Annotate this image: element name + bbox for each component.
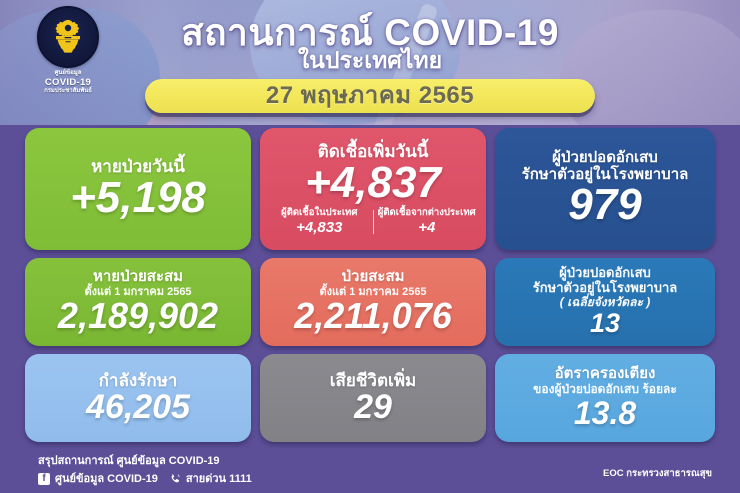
facebook-page-label[interactable]: ศูนย์ข้อมูล COVID-19	[55, 471, 158, 488]
footer-summary-text: สรุปสถานการณ์ ศูนย์ข้อมูล COVID-19	[38, 453, 252, 470]
substat-imported: ผู้ติดเชื้อจากต่างประเทศ +4	[374, 208, 481, 236]
substat-value: +4,833	[270, 219, 369, 236]
stat-value: 46,205	[86, 390, 190, 425]
facebook-icon[interactable]: f	[38, 473, 50, 485]
stat-value: 2,189,902	[58, 298, 218, 335]
report-date: 27 พฤษภาคม 2565	[266, 84, 474, 108]
hotline-label: สายด่วน 1111	[186, 471, 252, 488]
stat-label: อัตราครองเตียง	[555, 366, 656, 383]
stat-card-pneumonia-in-hospital: ผู้ป่วยปอดอักเสบ รักษาตัวอยู่ในโรงพยาบาล…	[495, 128, 715, 250]
stat-card-recovered-cumulative: หายป่วยสะสม ตั้งแต่ 1 มกราคม 2565 2,189,…	[25, 258, 251, 346]
covid-infographic-poster: ศูนย์ข้อมูล COVID-19 กรมประชาสัมพันธ์ สถ…	[0, 0, 740, 493]
stat-card-pneumonia-avg-per-province: ผู้ป่วยปอดอักเสบ รักษาตัวอยู่ในโรงพยาบาล…	[495, 258, 715, 346]
stat-value: 29	[354, 390, 392, 425]
stat-card-cases-cumulative: ป่วยสะสม ตั้งแต่ 1 มกราคม 2565 2,211,076	[260, 258, 486, 346]
stat-value: +5,198	[70, 176, 206, 221]
substat-group: ผู้ติดเชื้อในประเทศ +4,833 ผู้ติดเชื้อจา…	[266, 208, 480, 236]
substat-label: ผู้ติดเชื้อจากต่างประเทศ	[378, 208, 477, 219]
stat-card-currently-treating: กำลังรักษา 46,205	[25, 354, 251, 442]
stat-card-new-cases-today: ติดเชื้อเพิ่มวันนี้ +4,837 ผู้ติดเชื้อใน…	[260, 128, 486, 250]
substat-label: ผู้ติดเชื้อในประเทศ	[270, 208, 369, 219]
stats-row-3: กำลังรักษา 46,205 เสียชีวิตเพิ่ม 29 อัตร…	[25, 354, 715, 442]
footer-source-label: EOC กระทรวงสาธารณสุข	[603, 466, 712, 481]
poster-header: ศูนย์ข้อมูล COVID-19 กรมประชาสัมพันธ์ สถ…	[0, 0, 740, 125]
stat-label: ผู้ป่วยปอดอักเสบ	[552, 150, 658, 167]
stat-label: ป่วยสะสม	[342, 269, 405, 286]
stat-card-deaths-today: เสียชีวิตเพิ่ม 29	[260, 354, 486, 442]
stats-row-2: หายป่วยสะสม ตั้งแต่ 1 มกราคม 2565 2,189,…	[25, 258, 715, 346]
emblem-caption: ศูนย์ข้อมูล COVID-19 กรมประชาสัมพันธ์	[20, 70, 116, 95]
emblem-caption-line2: COVID-19	[20, 77, 116, 88]
date-banner: 27 พฤษภาคม 2565	[145, 79, 595, 113]
stat-sublabel: ของผู้ป่วยปอดอักเสบ ร้อยละ	[533, 383, 677, 397]
substat-value: +4	[378, 219, 477, 236]
substat-domestic: ผู้ติดเชื้อในประเทศ +4,833	[266, 208, 373, 236]
stat-sublabel: ตั้งแต่ 1 มกราคม 2565	[84, 286, 191, 299]
stat-value: +4,837	[305, 161, 441, 206]
footer-left-block: สรุปสถานการณ์ ศูนย์ข้อมูล COVID-19 f ศูน…	[38, 453, 252, 487]
emblem-caption-line3: กรมประชาสัมพันธ์	[44, 88, 92, 94]
stat-sublabel: ตั้งแต่ 1 มกราคม 2565	[319, 286, 426, 299]
stat-label: หายป่วยสะสม	[93, 269, 183, 286]
stat-card-recovered-today: หายป่วยวันนี้ +5,198	[25, 128, 251, 250]
stat-value: 979	[568, 183, 641, 228]
stat-card-bed-occupancy-rate: อัตราครองเตียง ของผู้ป่วยปอดอักเสบ ร้อยล…	[495, 354, 715, 442]
phone-icon	[169, 473, 181, 485]
footer-contact-row: f ศูนย์ข้อมูล COVID-19 สายด่วน 1111	[38, 471, 252, 488]
stat-value: 13	[590, 310, 620, 338]
statistics-grid: หายป่วยวันนี้ +5,198 ติดเชื้อเพิ่มวันนี้…	[25, 128, 715, 442]
header-title-block: สถานการณ์ COVID-19 ในประเทศไทย	[0, 14, 740, 72]
stat-value: 2,211,076	[294, 298, 451, 335]
stats-row-1: หายป่วยวันนี้ +5,198 ติดเชื้อเพิ่มวันนี้…	[25, 128, 715, 250]
poster-footer: สรุปสถานการณ์ ศูนย์ข้อมูล COVID-19 f ศูน…	[0, 448, 740, 493]
stat-value: 13.8	[574, 397, 636, 430]
page-subtitle: ในประเทศไทย	[0, 48, 740, 72]
stat-sublabel: ( เฉลี่ยจังหวัดละ )	[560, 296, 650, 310]
